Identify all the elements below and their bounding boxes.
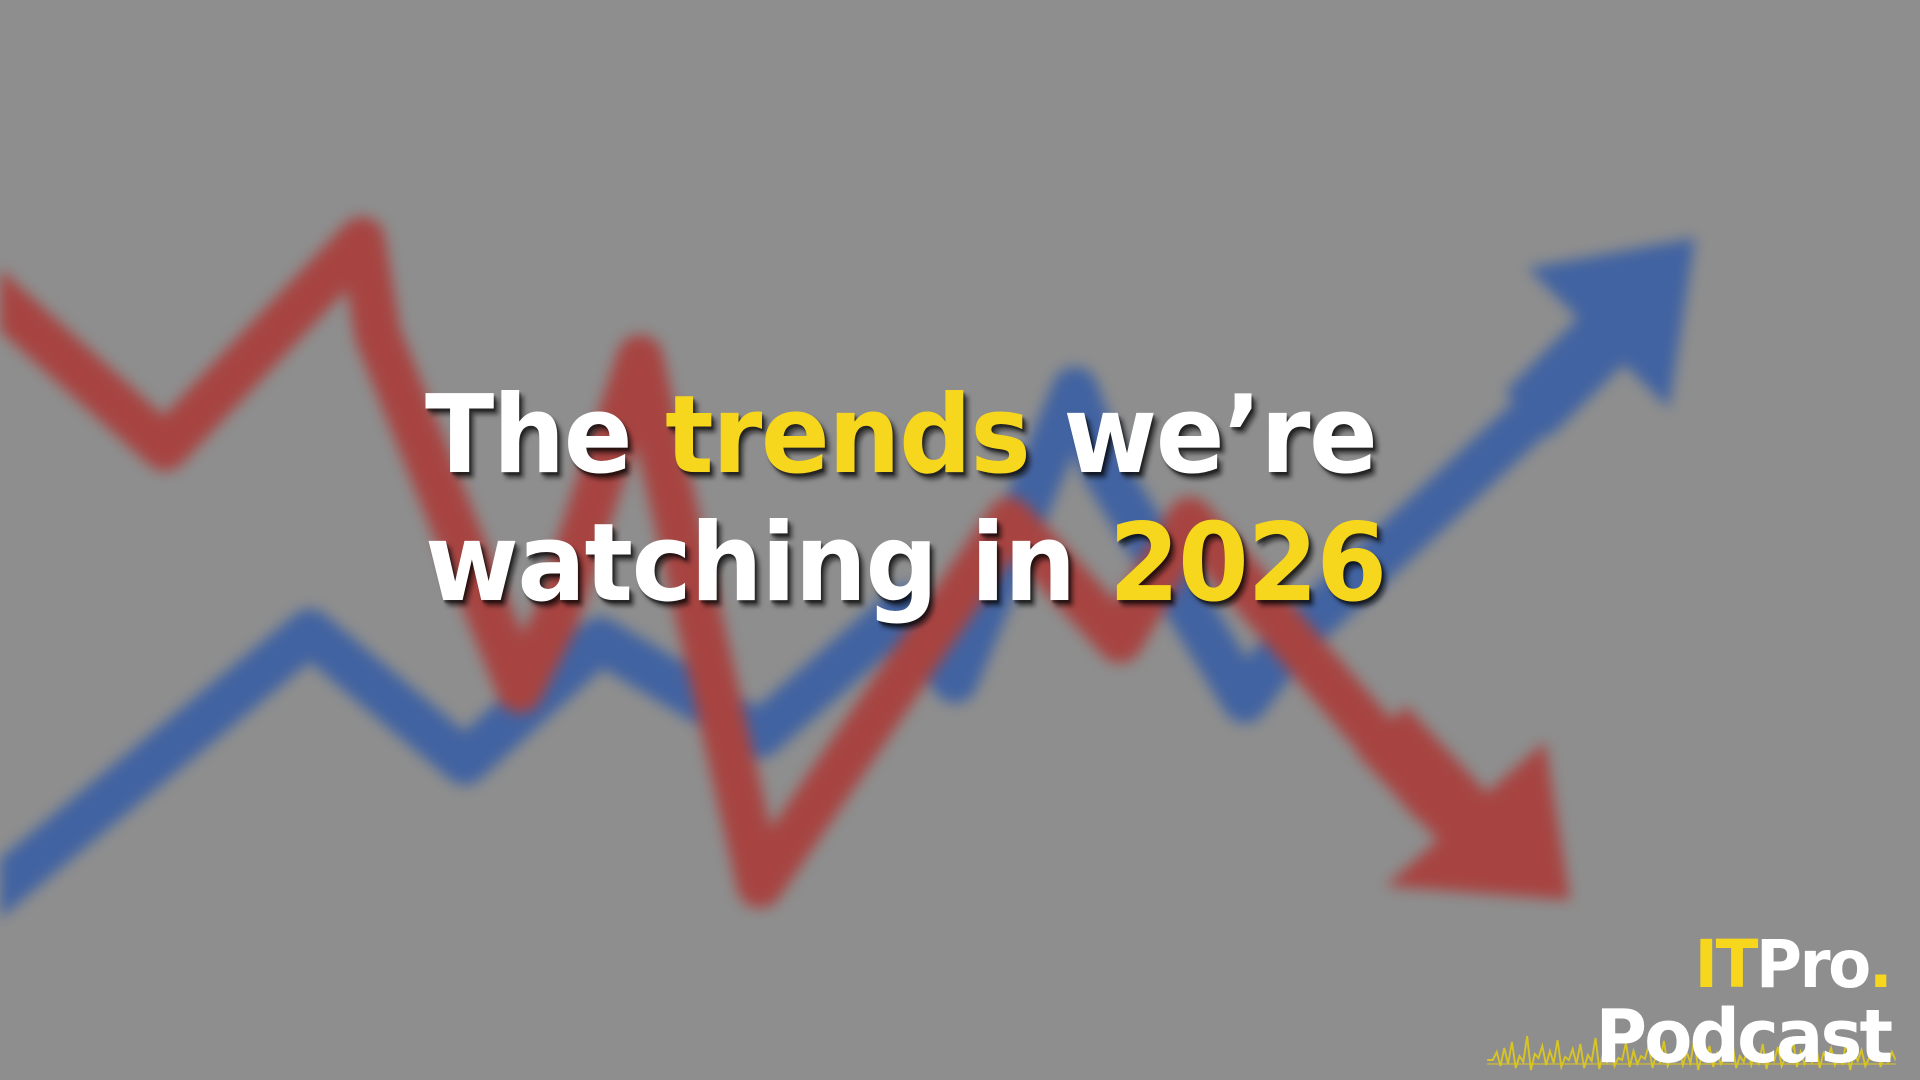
title-highlight-year: 2026 — [1109, 501, 1386, 626]
title-line-2: watching in 2026 — [425, 500, 1450, 628]
title-line-1-part-2: we’re — [1029, 373, 1376, 498]
logo-itpro-wordmark: ITPro. — [1595, 932, 1890, 998]
title-highlight-trends: trends — [665, 373, 1029, 498]
logo-podcast-wordmark: Podcast — [1595, 1000, 1890, 1074]
podcast-cover-image: The trends we’re watching in 2026 ITPro.… — [0, 0, 1920, 1080]
logo-it-text: IT — [1694, 926, 1755, 1003]
logo-dot-mark: . — [1869, 926, 1890, 1003]
logo-pro-text: Pro — [1756, 926, 1869, 1003]
title-line-2-part-1: watching in — [425, 501, 1109, 626]
title-line-1-part-1: The — [425, 373, 665, 498]
title-block: The trends we’re watching in 2026 — [425, 372, 1515, 628]
logo-podcast-text: Podcast — [1595, 994, 1890, 1080]
title-line-1: The trends we’re — [425, 372, 1450, 500]
itpro-podcast-logo: ITPro. Podcast — [1580, 932, 1890, 1074]
